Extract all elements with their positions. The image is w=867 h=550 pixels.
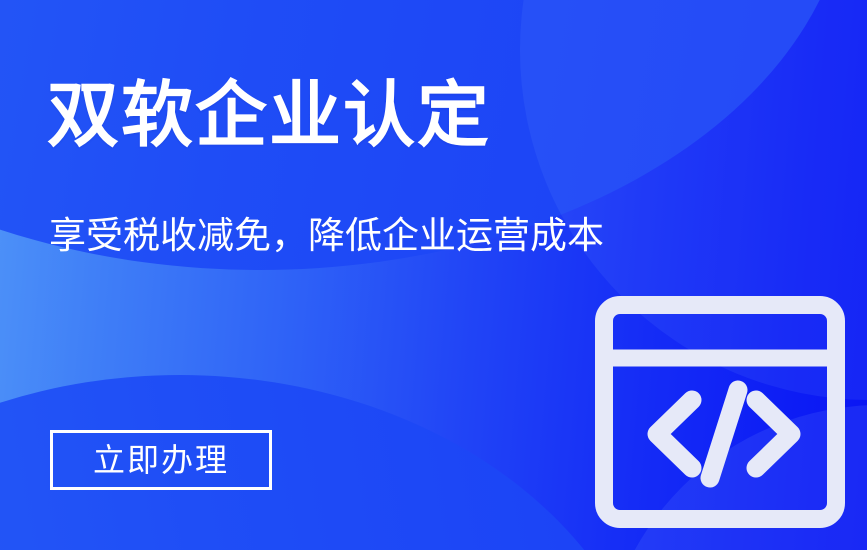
banner-title: 双软企业认定: [47, 80, 491, 152]
apply-now-button[interactable]: 立即办理: [50, 430, 272, 490]
banner-subtitle: 享受税收减免，降低企业运营成本: [49, 216, 604, 257]
promo-banner: 双软企业认定 享受税收减免，降低企业运营成本 立即办理: [0, 0, 867, 550]
banner-content: 双软企业认定 享受税收减免，降低企业运营成本 立即办理: [47, 0, 607, 550]
code-window-icon: [595, 296, 845, 528]
